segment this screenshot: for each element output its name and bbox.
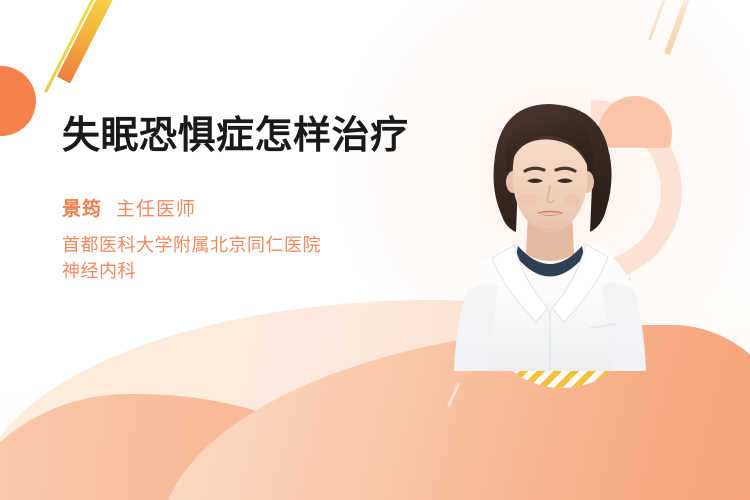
text-block: 失眠恐惧症怎样治疗 景筠 主任医师 首都医科大学附属北京同仁医院 神经内科 xyxy=(62,114,422,285)
doctor-portrait xyxy=(440,86,660,371)
doctor-name: 景筠 xyxy=(62,194,102,221)
doctor-title: 主任医师 xyxy=(116,194,196,221)
diagonal-stripe-cream-icon-b xyxy=(648,0,672,41)
doctor-meta: 景筠 主任医师 首都医科大学附属北京同仁医院 神经内科 xyxy=(62,194,422,284)
doctor-department: 神经内科 xyxy=(62,259,422,285)
cream-sliver xyxy=(447,383,460,408)
diagonal-stripe-orange-icon xyxy=(57,0,120,83)
diagonal-stripe-yellow-icon xyxy=(44,0,97,93)
diagonal-stripe-cream-icon-a xyxy=(664,0,694,55)
salmon-wave-secondary xyxy=(0,394,410,500)
doctor-name-row: 景筠 主任医师 xyxy=(62,194,422,221)
orange-circle xyxy=(0,66,36,136)
doctor-video-card: 失眠恐惧症怎样治疗 景筠 主任医师 首都医科大学附属北京同仁医院 神经内科 xyxy=(0,0,750,500)
doctor-hospital: 首都医科大学附属北京同仁医院 xyxy=(62,233,422,259)
page-title: 失眠恐惧症怎样治疗 xyxy=(62,114,422,158)
